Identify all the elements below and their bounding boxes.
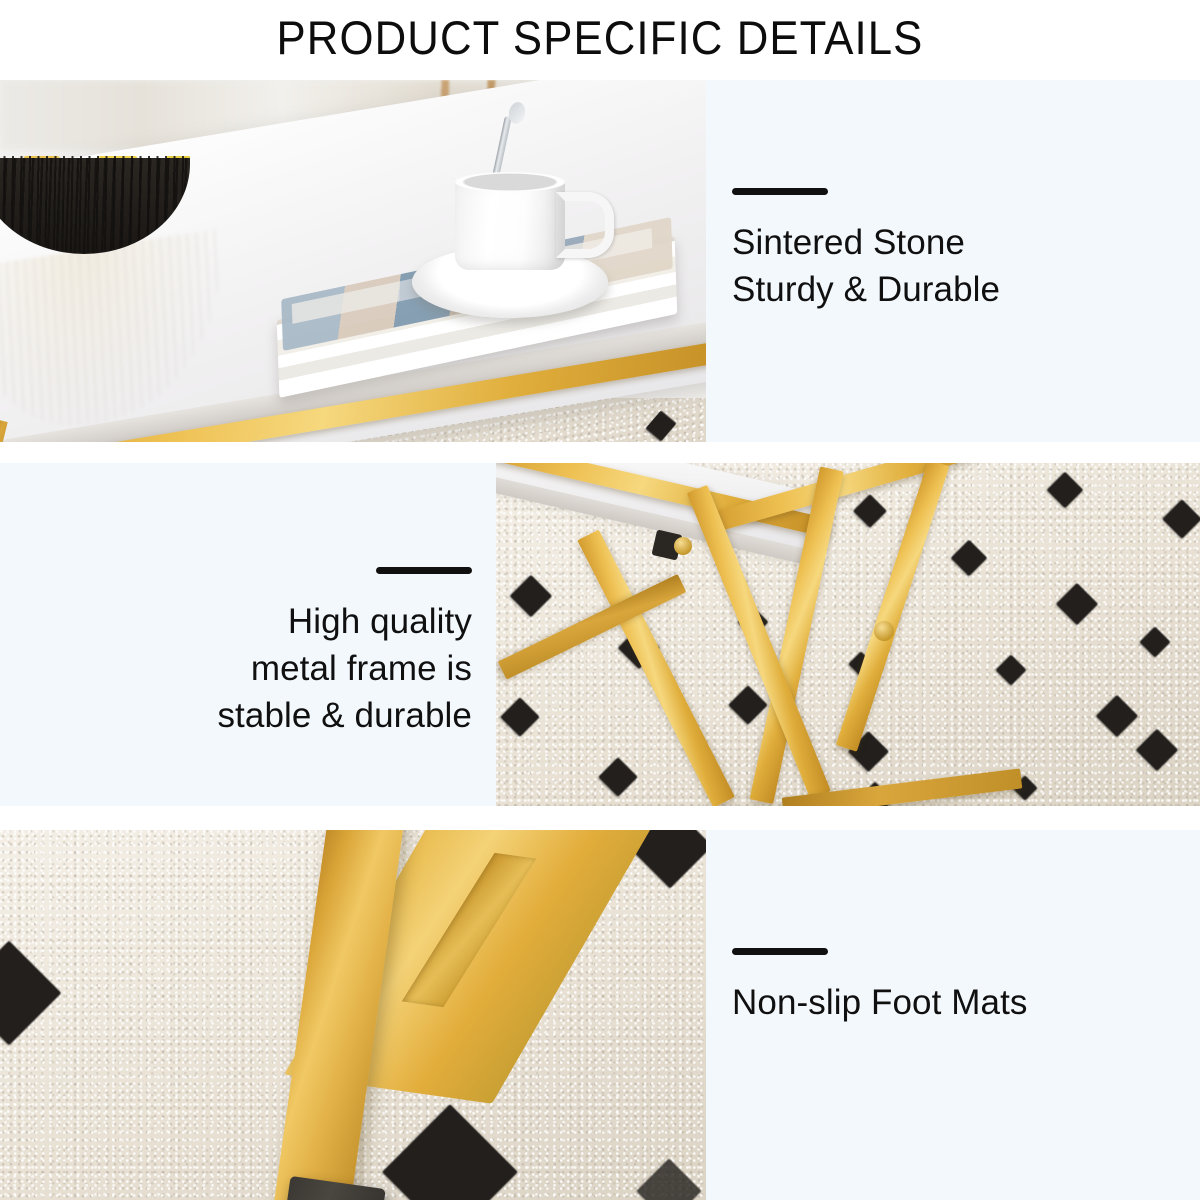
feature-panel-foot-mats: Non-slip Foot Mats	[0, 830, 1200, 1200]
feature-panel-sintered-stone: Sintered Stone Sturdy & Durable	[0, 80, 1200, 442]
dash-rule-icon	[376, 567, 472, 574]
dash-rule-icon	[732, 948, 828, 955]
page-title: PRODUCT SPECIFIC DETAILS	[42, 0, 1158, 78]
caption-zone-panel-2: High quality metal frame is stable & dur…	[0, 463, 496, 806]
caption-text-foot-mats: Non-slip Foot Mats	[732, 979, 1200, 1026]
coffee-cup-rim	[455, 172, 565, 192]
product-photo-foot-mat	[0, 830, 706, 1200]
caption-zone-panel-3: Non-slip Foot Mats	[706, 830, 1200, 1200]
caption-zone-panel-1: Sintered Stone Sturdy & Durable	[706, 80, 1200, 442]
frame-bolt-center	[874, 621, 894, 641]
product-photo-frame	[496, 463, 1200, 806]
caption-text-sintered-stone: Sintered Stone Sturdy & Durable	[732, 219, 1200, 313]
coffee-cup-handle	[556, 192, 614, 258]
dash-rule-icon	[732, 188, 828, 195]
frame-bolt-upper	[674, 537, 692, 555]
caption-text-metal-frame: High quality metal frame is stable & dur…	[0, 598, 472, 739]
product-photo-tabletop	[0, 80, 706, 442]
feature-panel-metal-frame: High quality metal frame is stable & dur…	[0, 463, 1200, 806]
